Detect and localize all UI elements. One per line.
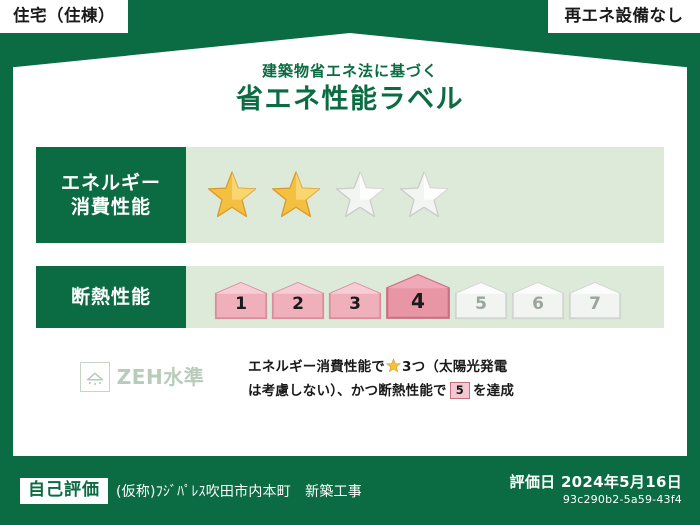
heading-title: 省エネ性能ラベル	[0, 82, 700, 118]
building-name-text: (仮称)ﾌｼﾞﾊﾟﾚｽ吹田市内本町 新築工事	[116, 481, 362, 501]
heading-subtitle: 建築物省エネ法に基づく	[0, 62, 700, 80]
criteria-note-part2: 3つ（太陽光発電	[402, 359, 508, 375]
energy-consumption-label-line1: エネルギー	[61, 171, 161, 195]
zeh-note-area: ZEH水準 エネルギー消費性能で3つ（太陽光発電は考慮しない）、かつ断熱性能で5…	[36, 356, 664, 403]
energy-consumption-row: エネルギー 消費性能	[36, 147, 664, 243]
insulation-badge-2: 2	[271, 282, 325, 320]
insulation-badge-1: 1	[214, 282, 268, 320]
insulation-badge-5-value: 5	[475, 296, 487, 320]
insulation-grade-scale: 1 2 3	[186, 266, 664, 328]
insulation-badge-strip: 1 2 3	[206, 274, 622, 320]
building-type-tag: 住宅（住棟）	[0, 0, 129, 34]
insulation-badge-2-value: 2	[292, 296, 304, 320]
criteria-note-part1: エネルギー消費性能で	[248, 359, 385, 375]
insulation-badge-1-value: 1	[235, 296, 247, 320]
renewable-equipment-tag: 再エネ設備なし	[547, 0, 700, 34]
insulation-performance-label-text: 断熱性能	[71, 285, 151, 309]
star-icon-filled-2	[270, 169, 322, 221]
criteria-note: エネルギー消費性能で3つ（太陽光発電は考慮しない）、かつ断熱性能で5を達成	[248, 356, 664, 403]
insulation-badge-4-current: 4	[385, 274, 451, 320]
energy-consumption-label-line2: 消費性能	[71, 195, 151, 219]
label-footer: 自己評価 (仮称)ﾌｼﾞﾊﾟﾚｽ吹田市内本町 新築工事 評価日 2024年5月1…	[0, 456, 700, 525]
page-title: 建築物省エネ法に基づく 省エネ性能ラベル	[0, 62, 700, 118]
renewable-equipment-tag-label: 再エネ設備なし	[565, 8, 684, 25]
building-type-tag-label: 住宅（住棟）	[13, 8, 115, 25]
insulation-performance-row: 断熱性能 1 2	[36, 266, 664, 328]
self-evaluation-badge: 自己評価	[20, 478, 108, 504]
criteria-note-part4: を達成	[473, 383, 514, 399]
star-icon-inline	[386, 358, 401, 373]
evaluation-date: 評価日 2024年5月16日	[510, 473, 682, 492]
insulation-performance-label: 断熱性能	[36, 266, 186, 328]
energy-performance-label: 住宅（住棟） 再エネ設備なし 建築物省エネ法に基づく 省エネ性能ラベル エネルギ…	[0, 0, 700, 525]
insulation-badge-6-value: 6	[532, 296, 544, 320]
energy-star-rating	[186, 147, 664, 243]
insulation-badge-5: 5	[454, 282, 508, 320]
star-icon-empty-4	[398, 169, 450, 221]
criteria-note-grade-badge: 5	[450, 382, 470, 400]
insulation-badge-3: 3	[328, 282, 382, 320]
insulation-badge-3-value: 3	[349, 296, 361, 320]
criteria-note-part3: は考慮しない）、かつ断熱性能で	[248, 383, 447, 399]
zeh-house-icon	[80, 362, 110, 392]
footer-right-group: 評価日 2024年5月16日 93c290b2-5a59-43f4	[510, 473, 700, 507]
energy-consumption-label: エネルギー 消費性能	[36, 147, 186, 243]
star-icon-empty-3	[334, 169, 386, 221]
insulation-badge-7: 7	[568, 282, 622, 320]
insulation-badge-7-value: 7	[589, 296, 601, 320]
insulation-badge-4-value: 4	[411, 291, 425, 320]
zeh-standard-label: ZEH水準	[117, 367, 204, 387]
footer-left-group: 自己評価 (仮称)ﾌｼﾞﾊﾟﾚｽ吹田市内本町 新築工事	[0, 478, 510, 504]
insulation-badge-6: 6	[511, 282, 565, 320]
star-icon-filled-1	[206, 169, 258, 221]
evaluation-id: 93c290b2-5a59-43f4	[510, 493, 682, 507]
zeh-standard-mark: ZEH水準	[36, 356, 248, 392]
